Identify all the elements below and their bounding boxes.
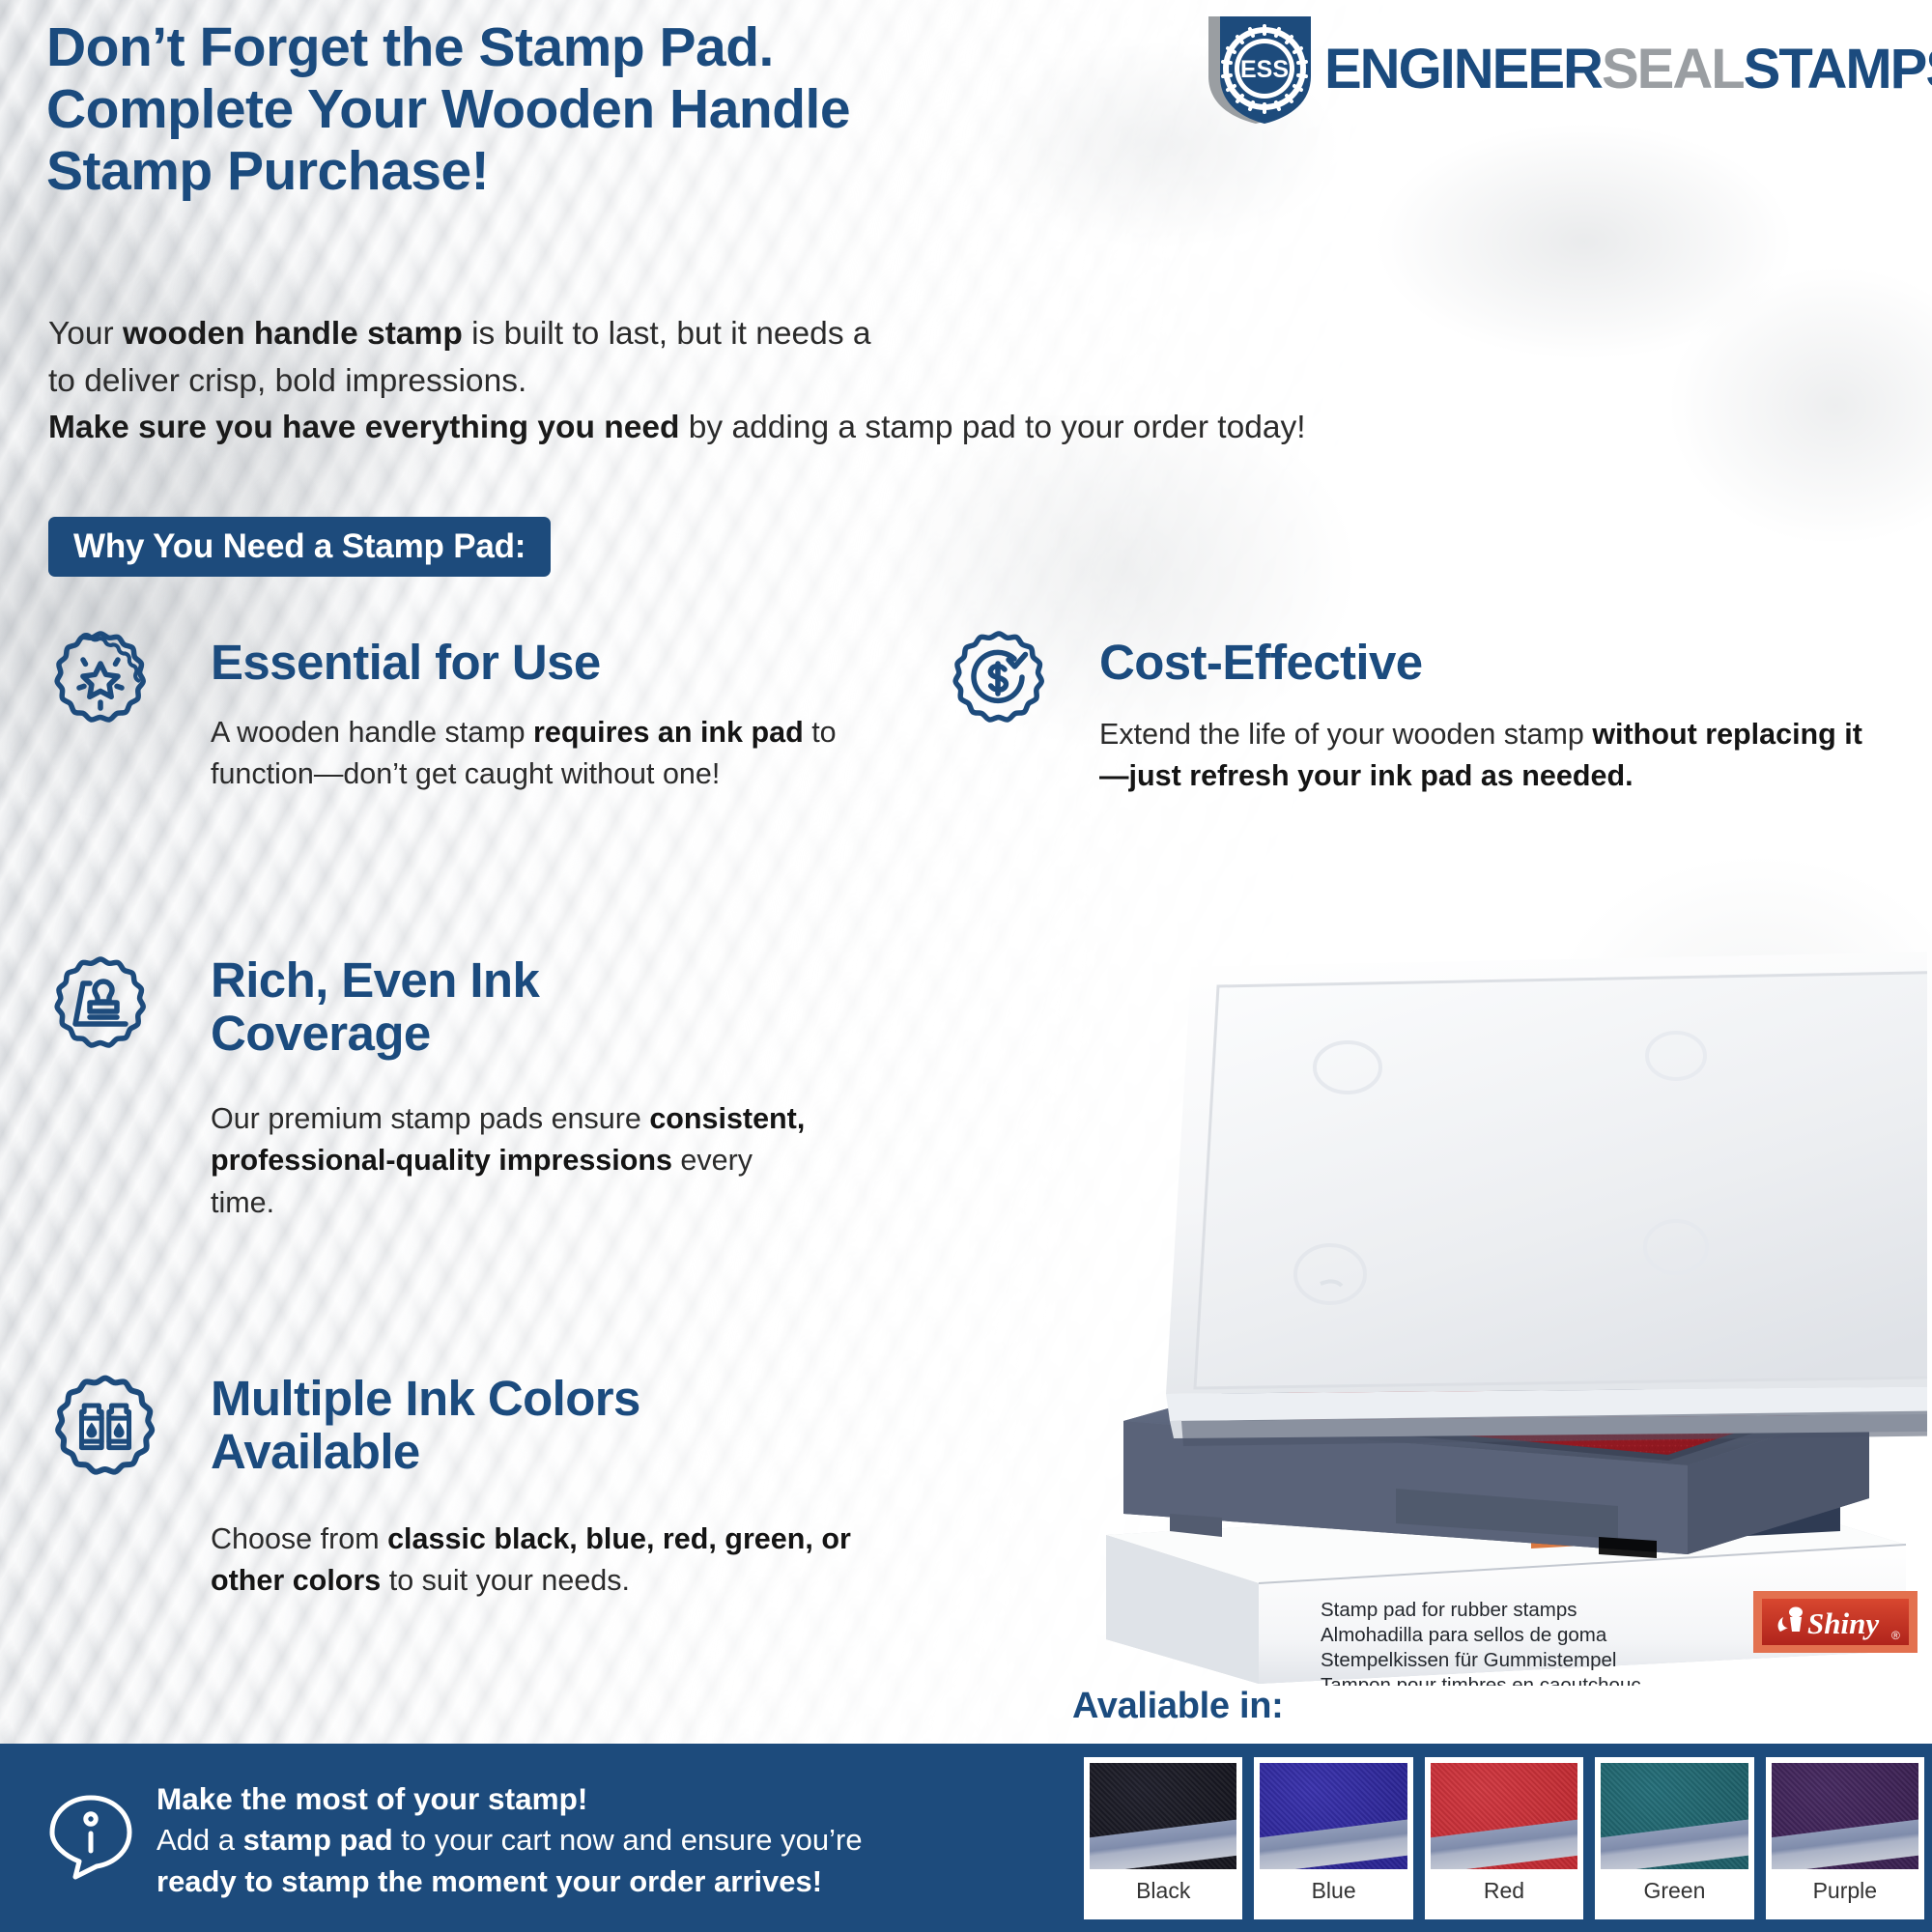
intro-seg-4: by adding a stamp pad to your order toda… bbox=[679, 410, 1305, 445]
wordmark-engineer: ENGINEER bbox=[1324, 42, 1602, 98]
feature-title: Cost-Effective bbox=[1099, 636, 1872, 689]
footer-line-2-seg-1: Add a bbox=[156, 1823, 243, 1857]
swatch-label: Red bbox=[1431, 1869, 1577, 1914]
intro-bold-1: wooden handle stamp bbox=[123, 316, 463, 352]
brand-wordmark: ENGINEERSEALSTAMPS.COM bbox=[1324, 42, 1932, 98]
swatch-label: Purple bbox=[1772, 1869, 1918, 1914]
feature-title: Multiple Ink Colors Available bbox=[211, 1372, 935, 1478]
section-banner: Why You Need a Stamp Pad: bbox=[48, 517, 551, 577]
swatch-pad-color bbox=[1601, 1763, 1747, 1869]
dollar-check-badge-icon bbox=[945, 626, 1053, 734]
swatch-image bbox=[1601, 1763, 1747, 1869]
swatch-label: Black bbox=[1090, 1869, 1236, 1914]
box-line-2: Almohadilla para sellos de goma bbox=[1321, 1624, 1607, 1646]
brand-logo[interactable]: ESS ENGINEERSEALSTAMPS.COM bbox=[1203, 12, 1922, 128]
info-speech-bubble-icon bbox=[46, 1792, 135, 1881]
swatch-green[interactable]: Green bbox=[1595, 1757, 1753, 1919]
feature-body: A wooden handle stamp requires an ink pa… bbox=[211, 712, 838, 796]
swatch-image bbox=[1090, 1763, 1236, 1869]
feature-title-text: Cost-Effective bbox=[1099, 635, 1423, 690]
feature-body-bold-1: requires an ink pad bbox=[533, 716, 804, 749]
ess-gear-shield-icon: ESS bbox=[1203, 13, 1317, 127]
ink-color-swatch-strip: Black Blue Red Green Purple bbox=[1070, 1744, 1932, 1932]
swatch-pad-color bbox=[1431, 1763, 1577, 1869]
feature-body-seg-1: Choose from bbox=[211, 1522, 387, 1555]
feature-essential-for-use: Essential for Use A wooden handle stamp … bbox=[46, 626, 848, 796]
wordmark-stamps: STAMPS bbox=[1744, 42, 1932, 98]
feature-title-text: Essential for Use bbox=[211, 635, 601, 690]
registered-mark: ® bbox=[1891, 1629, 1900, 1642]
feature-title-line-2: Available bbox=[211, 1424, 420, 1479]
product-photo-stamp-pad: S-C Stamp pad for rubber stamps Almohadi… bbox=[1077, 952, 1927, 1686]
footer-line-1: Make the most of your stamp! bbox=[156, 1778, 1007, 1820]
ess-monogram: ESS bbox=[1240, 56, 1289, 83]
headline-line-2: Complete Your Wooden Handle bbox=[46, 79, 1186, 141]
intro-bold-3: Make sure you have everything you need bbox=[48, 410, 679, 445]
feature-body-seg-1: Extend the life of your wooden stamp bbox=[1099, 718, 1592, 751]
swatch-image bbox=[1260, 1763, 1406, 1869]
swatch-label: Green bbox=[1601, 1869, 1747, 1914]
available-in-text: Avaliable in: bbox=[1072, 1686, 1284, 1726]
swatch-blue[interactable]: Blue bbox=[1254, 1757, 1412, 1919]
footer-line-2: Add a stamp pad to your cart now and ens… bbox=[156, 1820, 1007, 1861]
intro-seg-3: to deliver crisp, bold impressions. bbox=[48, 363, 526, 399]
page-title: Don’t Forget the Stamp Pad. Complete You… bbox=[46, 17, 1186, 202]
feature-rich-ink-coverage: Rich, Even Ink Coverage Our premium stam… bbox=[46, 952, 848, 1224]
intro-seg-1: Your bbox=[48, 316, 123, 352]
swatch-image bbox=[1772, 1763, 1918, 1869]
box-line-1: Stamp pad for rubber stamps bbox=[1321, 1599, 1577, 1621]
section-banner-label: Why You Need a Stamp Pad: bbox=[73, 527, 526, 566]
swatch-pad-color bbox=[1260, 1763, 1406, 1869]
swatch-pad-color bbox=[1772, 1763, 1918, 1869]
box-line-4: Tampon pour timbres en caoutchouc bbox=[1321, 1674, 1641, 1686]
footer-line-2-seg-2: to your cart now and ensure you’re bbox=[393, 1823, 863, 1857]
feature-body: Extend the life of your wooden stamp wit… bbox=[1099, 714, 1862, 798]
swatch-label: Blue bbox=[1260, 1869, 1406, 1914]
swatch-black[interactable]: Black bbox=[1084, 1757, 1242, 1919]
box-line-3: Stempelkissen für Gummistempel bbox=[1321, 1649, 1616, 1671]
feature-title-line-2: Coverage bbox=[211, 1006, 431, 1061]
feature-body: Our premium stamp pads ensure consistent… bbox=[211, 1098, 810, 1224]
ink-bottles-badge-icon bbox=[46, 1370, 164, 1488]
feature-cost-effective: Cost-Effective Extend the life of your w… bbox=[945, 626, 1872, 798]
feature-title: Rich, Even Ink Coverage bbox=[211, 953, 848, 1060]
feature-body-seg-2: to suit your needs. bbox=[381, 1564, 630, 1597]
swatch-red[interactable]: Red bbox=[1425, 1757, 1583, 1919]
available-in-label: Avaliable in: bbox=[1072, 1686, 1284, 1727]
shiny-brand-text: Shiny bbox=[1807, 1606, 1879, 1640]
feature-title-line-1: Rich, Even Ink bbox=[211, 952, 539, 1008]
star-badge-icon bbox=[46, 626, 155, 734]
footer-line-2-bold: stamp pad bbox=[243, 1823, 393, 1857]
infographic-page: Don’t Forget the Stamp Pad. Complete You… bbox=[0, 0, 1932, 1932]
headline-line-3: Stamp Purchase! bbox=[46, 141, 1186, 203]
feature-title-line-1: Multiple Ink Colors bbox=[211, 1371, 640, 1426]
intro-paragraph: Your wooden handle stamp is built to las… bbox=[48, 311, 1710, 452]
intro-seg-2: is built to last, but it needs a bbox=[463, 316, 871, 352]
feature-body-seg-1: Our premium stamp pads ensure bbox=[211, 1102, 649, 1135]
headline-line-1: Don’t Forget the Stamp Pad. bbox=[46, 17, 1186, 79]
swatch-image bbox=[1431, 1763, 1577, 1869]
feature-body: Choose from classic black, blue, red, gr… bbox=[211, 1519, 906, 1603]
feature-body-seg-1: A wooden handle stamp bbox=[211, 716, 533, 749]
shiny-logo: Shiny ® bbox=[1753, 1591, 1918, 1653]
feature-multiple-ink-colors: Multiple Ink Colors Available Choose fro… bbox=[46, 1370, 935, 1603]
stamp-pad-lid bbox=[1166, 952, 1927, 1438]
swatch-pad-color bbox=[1090, 1763, 1236, 1869]
rubber-stamp-badge-icon bbox=[46, 952, 155, 1060]
footer-line-3: ready to stamp the moment your order arr… bbox=[156, 1861, 1007, 1903]
wordmark-seal: SEAL bbox=[1602, 42, 1744, 98]
swatch-purple[interactable]: Purple bbox=[1766, 1757, 1924, 1919]
footer-message: Make the most of your stamp! Add a stamp… bbox=[156, 1778, 1007, 1903]
feature-title: Essential for Use bbox=[211, 636, 848, 689]
